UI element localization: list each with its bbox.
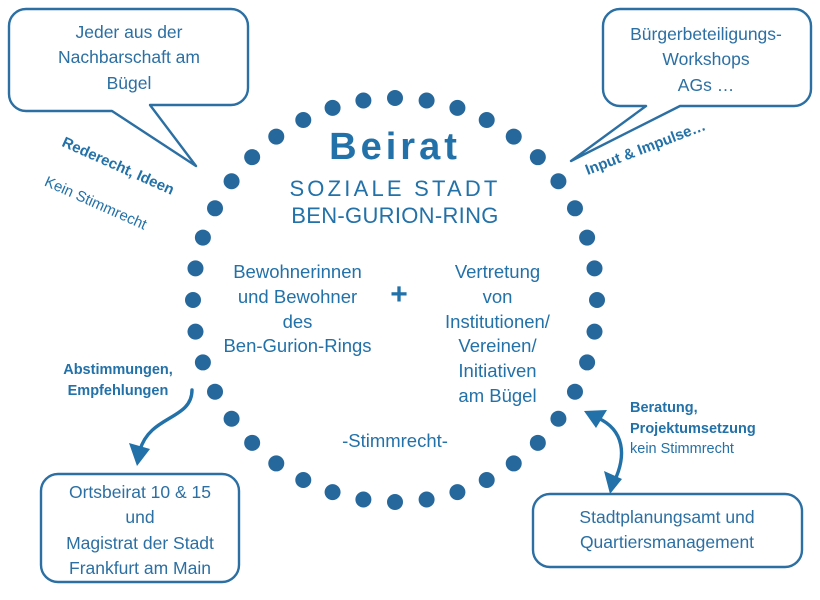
ring-dot bbox=[207, 384, 223, 400]
ring-dot bbox=[268, 455, 284, 471]
ring-dot bbox=[579, 230, 595, 246]
label-abstimmungen-empfehlungen: Abstimmungen, Empfehlungen bbox=[48, 360, 188, 401]
ring-dot bbox=[187, 324, 203, 340]
ring-dot bbox=[449, 484, 465, 500]
arrow-beratung-head-down bbox=[604, 471, 622, 494]
ring-dot bbox=[506, 455, 522, 471]
ring-dot bbox=[325, 484, 341, 500]
box-bottom-left-text: Ortsbeirat 10 & 15 und Magistrat der Sta… bbox=[44, 480, 236, 582]
label-beratung-line1: Beratung, bbox=[630, 398, 790, 419]
page-subtitle-soziale-stadt: SOZIALE STADT bbox=[195, 176, 595, 202]
center-column-left: Bewohnerinnen und Bewohner des Ben-Gurio… bbox=[205, 260, 390, 359]
ring-dot bbox=[419, 492, 435, 508]
ring-dot bbox=[387, 494, 403, 510]
ring-dot bbox=[187, 260, 203, 276]
page-subtitle-ben-gurion-ring: BEN-GURION-RING bbox=[195, 203, 595, 229]
ring-dot bbox=[589, 292, 605, 308]
ring-dot bbox=[185, 292, 201, 308]
ring-dot bbox=[355, 92, 371, 108]
ring-dot bbox=[530, 435, 546, 451]
ring-dot bbox=[419, 92, 435, 108]
ring-dot bbox=[387, 90, 403, 106]
ring-dot bbox=[224, 411, 240, 427]
ring-dot bbox=[587, 260, 603, 276]
plus-icon: + bbox=[385, 278, 413, 312]
ring-dot bbox=[295, 472, 311, 488]
ring-dot bbox=[550, 411, 566, 427]
box-bottom-right-text: Stadtplanungsamt und Quartiersmanagement bbox=[540, 505, 794, 556]
ring-dot bbox=[479, 472, 495, 488]
label-beratung-line2: Projektumsetzung bbox=[630, 419, 790, 440]
ring-dot bbox=[449, 100, 465, 116]
ring-dot bbox=[195, 230, 211, 246]
arrow-beratung bbox=[598, 418, 622, 482]
label-beratung-kein-stimmrecht: kein Stimmrecht bbox=[630, 439, 790, 460]
ring-dot bbox=[325, 100, 341, 116]
ring-dot bbox=[355, 492, 371, 508]
diagram-canvas: Jeder aus der Nachbarschaft am Bügel Bür… bbox=[0, 0, 820, 600]
center-column-right: Vertretung von Institutionen/ Vereinen/ … bbox=[410, 260, 585, 409]
page-title: Beirat bbox=[195, 126, 595, 169]
callout-top-left-text: Jeder aus der Nachbarschaft am Bügel bbox=[18, 20, 240, 96]
ring-dot bbox=[587, 324, 603, 340]
arrow-abstimmungen-head bbox=[129, 443, 150, 466]
callout-top-right-text: Bürgerbeteiligungs- Workshops AGs … bbox=[608, 22, 804, 98]
ring-dot bbox=[244, 435, 260, 451]
label-beratung-projektumsetzung: Beratung, Projektumsetzung kein Stimmrec… bbox=[630, 398, 790, 460]
center-footer-stimmrecht: -Stimmrecht- bbox=[275, 430, 515, 452]
